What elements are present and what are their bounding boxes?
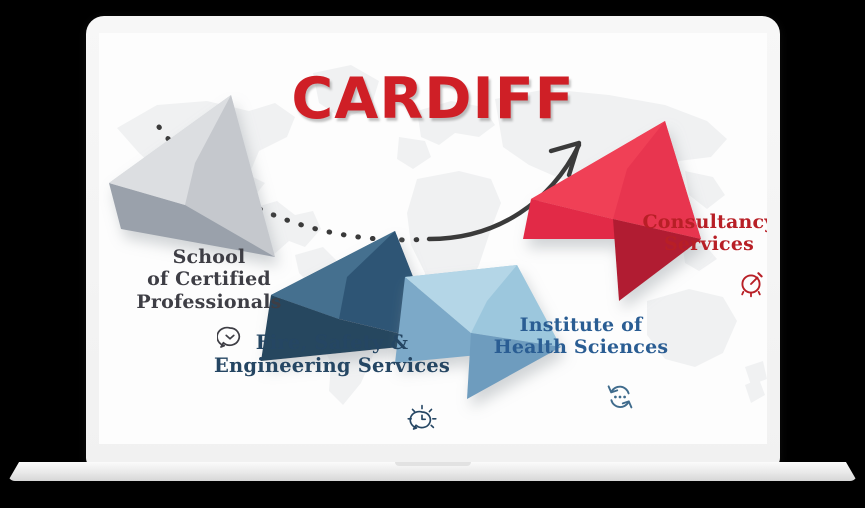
idea-clock-icon [405,404,439,436]
plane-school [109,95,275,257]
label-consultancy: Consultancy Services [619,211,767,256]
laptop-base [8,462,857,481]
label-school: School of Certified Professionals [109,246,309,313]
speech-bubble-chevron-icon [217,325,243,353]
label-health: Institute of Health Sciences [471,314,691,359]
slide-stage: CARDIFF [0,0,865,508]
stopwatch-icon [737,268,767,298]
laptop-screen: CARDIFF [99,33,767,444]
refresh-cycle-icon [605,383,635,411]
label-fire: Fire, Safety & Engineering Services [207,331,457,377]
